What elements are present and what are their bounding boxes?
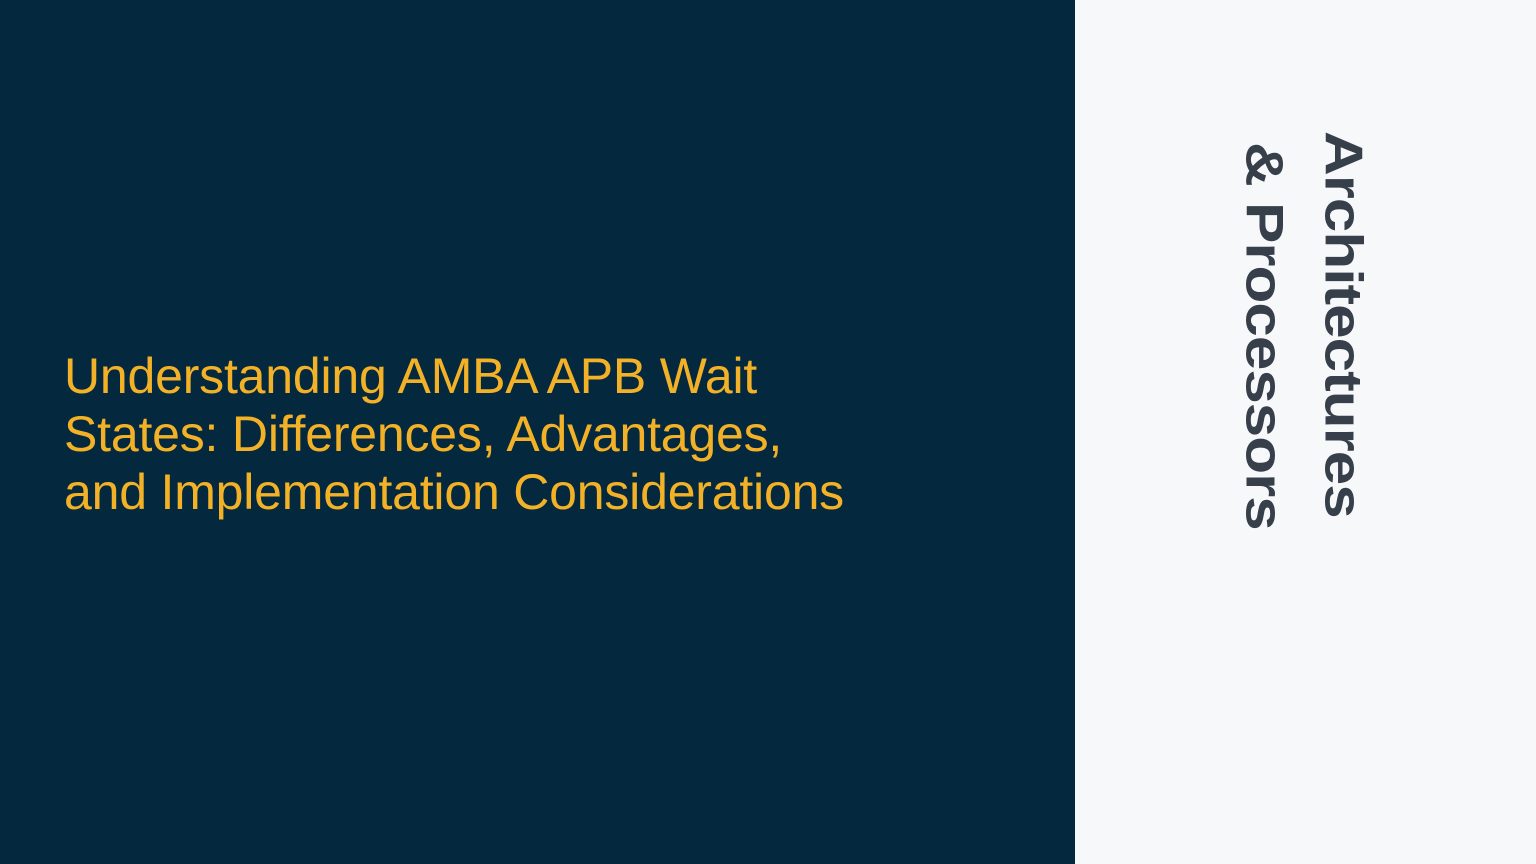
category-label-line-2: & Processors [1235,142,1292,530]
title-line-2: States: Differences, Advantages, [64,405,1034,463]
page-title: Understanding AMBA APB Wait States: Diff… [64,347,1034,521]
title-line-1: Understanding AMBA APB Wait [64,347,1034,405]
vertical-label-stack [1075,0,1536,864]
category-label-line-1: Architectures [1314,131,1371,518]
category-panel [1075,0,1536,864]
title-line-3: and Implementation Considerations [64,463,1034,521]
title-slide: Understanding AMBA APB Wait States: Diff… [0,0,1536,864]
title-panel: Understanding AMBA APB Wait States: Diff… [0,0,1075,864]
